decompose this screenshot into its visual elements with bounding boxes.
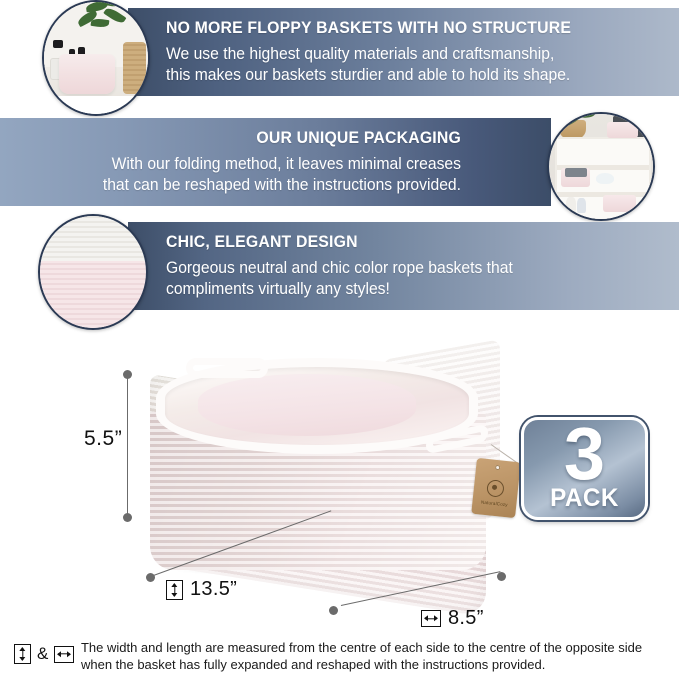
product-photo: NaturalCozy <box>142 352 522 592</box>
banner-1-text-block: NO MORE FLOPPY BASKETS WITH NO STRUCTURE… <box>128 8 679 96</box>
product-infographic: NO MORE FLOPPY BASKETS WITH NO STRUCTURE… <box>0 0 679 673</box>
hang-tag: NaturalCozy <box>471 458 521 518</box>
footnote-ampersand: & <box>37 644 48 664</box>
horizontal-arrow-icon <box>421 610 441 627</box>
thumbnail-2-image <box>549 114 653 219</box>
width-endpoint-right <box>497 572 506 581</box>
pack-count-badge: 3 PACK <box>521 417 648 520</box>
basket-interior <box>198 374 416 436</box>
bookshelf-icon <box>555 137 651 221</box>
measurement-footnote: & The width and length are measured from… <box>14 640 666 673</box>
banner-2-body: With our folding method, it leaves minim… <box>103 154 461 196</box>
banner-2-text-block: OUR UNIQUE PACKAGING With our folding me… <box>0 118 551 206</box>
length-endpoint-right <box>329 606 338 615</box>
height-endpoint-bottom <box>123 513 132 522</box>
thumbnail-3-image <box>40 216 146 328</box>
thumbnail-shelf-styling <box>547 112 655 221</box>
banner-1-body: We use the highest quality materials and… <box>166 44 570 86</box>
vertical-arrow-icon <box>166 580 183 600</box>
hang-tag-brand: NaturalCozy <box>476 499 512 508</box>
thumbnail-bathroom-vanity <box>42 0 150 116</box>
feature-banner-2: OUR UNIQUE PACKAGING With our folding me… <box>0 118 551 206</box>
height-endpoint-top <box>123 370 132 379</box>
banner-2-heading: OUR UNIQUE PACKAGING <box>256 128 461 148</box>
banner-1-heading: NO MORE FLOPPY BASKETS WITH NO STRUCTURE <box>166 18 571 38</box>
width-label: 8.5” <box>448 607 484 630</box>
thumbnail-rope-texture <box>38 214 148 330</box>
badge-count: 3 <box>564 424 605 484</box>
thumbnail-1-image <box>44 2 148 114</box>
horizontal-arrow-icon <box>54 646 74 663</box>
banner-3-body: Gorgeous neutral and chic color rope bas… <box>166 258 513 300</box>
banner-3-text-block: CHIC, ELEGANT DESIGN Gorgeous neutral an… <box>128 222 679 310</box>
hang-tag-hole <box>495 465 500 470</box>
height-dimension-line <box>127 375 128 517</box>
length-label-group: 13.5” <box>166 578 237 601</box>
feature-banner-3: CHIC, ELEGANT DESIGN Gorgeous neutral an… <box>128 222 679 310</box>
height-label: 5.5” <box>84 427 122 451</box>
footnote-text: The width and length are measured from t… <box>81 640 642 673</box>
length-endpoint-left <box>146 573 155 582</box>
vertical-arrow-icon <box>14 644 31 664</box>
badge-unit: PACK <box>550 485 619 511</box>
rope-storage-basket <box>142 352 522 582</box>
footnote-glyphs: & <box>14 640 74 664</box>
brand-logo-icon <box>486 479 505 498</box>
width-label-group: 8.5” <box>421 607 484 630</box>
feature-banner-1: NO MORE FLOPPY BASKETS WITH NO STRUCTURE… <box>128 8 679 96</box>
pink-basket-in-thumbnail <box>59 54 115 94</box>
length-label: 13.5” <box>190 578 237 601</box>
basket-handle-left <box>186 358 268 378</box>
banner-3-heading: CHIC, ELEGANT DESIGN <box>166 232 358 252</box>
